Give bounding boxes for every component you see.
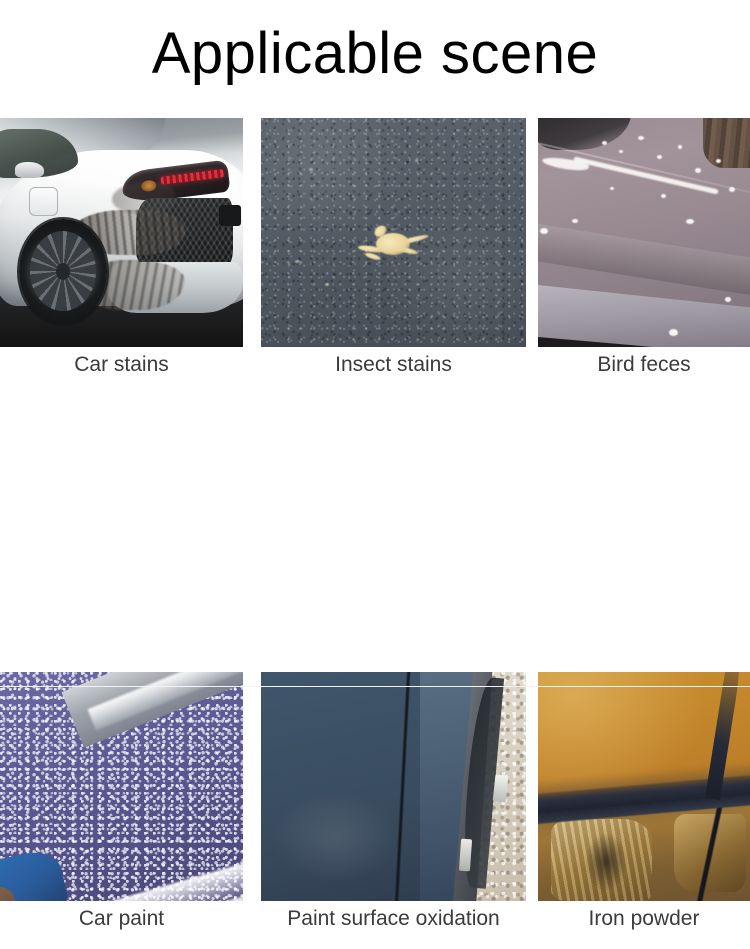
insect-stains-splat: [356, 226, 430, 265]
scene-card-bird-feces[interactable]: Bird feces: [538, 118, 750, 347]
scene-grid: Car stains: [0, 118, 750, 672]
applicable-scene-page: Applicable scene: [0, 0, 750, 750]
scene-grid-row: Car paint Pai: [0, 672, 750, 949]
section-divider: [0, 686, 750, 687]
car-paint-image[interactable]: [0, 672, 243, 901]
bird-feces-spot: [572, 219, 578, 223]
bird-feces-spot: [602, 141, 607, 145]
car-stains-vent: [219, 205, 241, 226]
paint-surface-oxidation-image[interactable]: [261, 672, 526, 901]
page-title: Applicable scene: [0, 19, 750, 89]
scene-card-car-paint[interactable]: Car paint: [0, 672, 243, 901]
oxidation-chrome-detail: [459, 839, 472, 872]
bird-feces-spot: [725, 297, 731, 302]
scene-card-insect-stains[interactable]: Insect stains: [261, 118, 526, 347]
bird-feces-spot: [610, 187, 614, 190]
bird-feces-spot: [686, 219, 694, 224]
iron-powder-image[interactable]: [538, 672, 750, 901]
bird-feces-spot: [669, 329, 678, 336]
scene-card-car-stains[interactable]: Car stains: [0, 118, 243, 347]
car-stains-fuel-cap: [29, 187, 58, 216]
car-stains-wheel: [19, 219, 106, 324]
insect-splat-arm: [365, 251, 382, 260]
bird-feces-background-wood: [703, 118, 750, 168]
scene-grid-row: Car stains: [0, 118, 750, 395]
scene-caption-paint-surface-oxidation: Paint surface oxidation: [261, 904, 526, 934]
scene-card-paint-surface-oxidation[interactable]: Paint surface oxidation: [261, 672, 526, 901]
bird-feces-spot: [657, 155, 662, 159]
bird-feces-spot: [729, 187, 735, 192]
scene-caption-car-paint: Car paint: [0, 904, 243, 934]
scene-caption-car-stains: Car stains: [0, 350, 243, 380]
bird-feces-spot: [619, 150, 623, 153]
insect-splat-core: [376, 233, 410, 256]
iron-powder-shadow: [585, 832, 627, 892]
bird-feces-image[interactable]: [538, 118, 750, 347]
car-stains-mirror: [15, 162, 44, 178]
scene-card-iron-powder[interactable]: Iron powder: [538, 672, 750, 901]
scene-caption-bird-feces: Bird feces: [538, 350, 750, 380]
insect-stains-fleck: [415, 159, 418, 162]
insect-stains-fleck: [325, 283, 329, 286]
car-stains-image[interactable]: [0, 118, 243, 347]
oxidation-dull-haze: [272, 791, 399, 883]
bird-feces-spot: [540, 228, 548, 234]
bird-feces-spot: [661, 194, 666, 198]
scene-caption-insect-stains: Insect stains: [261, 350, 526, 380]
insect-stains-image[interactable]: [261, 118, 526, 347]
scene-caption-iron-powder: Iron powder: [538, 904, 750, 934]
